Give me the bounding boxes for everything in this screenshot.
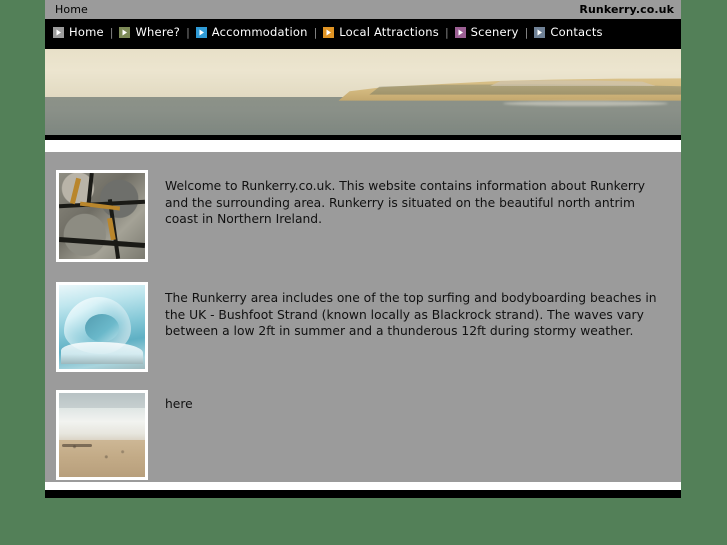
nav-label-accommodation: Accommodation: [212, 25, 308, 39]
arrow-right-icon: [53, 27, 64, 38]
nav-item-accommodation[interactable]: Accommodation: [196, 19, 308, 45]
nav-label-contacts: Contacts: [550, 25, 602, 39]
page-root: Home Runkerry.co.uk Home | Where? | Acco…: [0, 0, 727, 545]
divider-white-bottom: [45, 482, 681, 490]
content-panel: Welcome to Runkerry.co.uk. This website …: [45, 152, 681, 482]
nav-separator: |: [104, 26, 120, 39]
nav-label-local-attractions: Local Attractions: [339, 25, 439, 39]
nav-separator: |: [180, 26, 196, 39]
content-text: The Runkerry area includes one of the to…: [148, 282, 658, 340]
titlebar: Home Runkerry.co.uk: [45, 0, 681, 19]
arrow-right-icon: [455, 27, 466, 38]
arrow-right-icon: [323, 27, 334, 38]
nav-separator: |: [439, 26, 455, 39]
nav-item-home[interactable]: Home: [53, 19, 104, 45]
basalt-columns-thumbnail[interactable]: [56, 170, 148, 262]
content-block: here: [45, 372, 681, 480]
nav-label-scenery: Scenery: [471, 25, 519, 39]
banner-surf-foam: [503, 101, 668, 106]
nav-label-where: Where?: [135, 25, 180, 39]
wave-barrel: [85, 314, 119, 343]
titlebar-site-name: Runkerry.co.uk: [579, 3, 674, 16]
footer-bar: [45, 490, 681, 498]
content-text: here: [148, 390, 193, 413]
nav-separator: |: [519, 26, 535, 39]
content-text: Welcome to Runkerry.co.uk. This website …: [148, 170, 658, 228]
nav-item-scenery[interactable]: Scenery: [455, 19, 519, 45]
nav-item-contacts[interactable]: Contacts: [534, 19, 602, 45]
wave-spray: [61, 342, 144, 364]
arrow-right-icon: [196, 27, 207, 38]
banner-image: [45, 49, 681, 135]
nav-separator: |: [308, 26, 324, 39]
banner-photo: [45, 45, 681, 140]
arrow-right-icon: [119, 27, 130, 38]
beach-surf-thumbnail[interactable]: [56, 390, 148, 480]
content-block: The Runkerry area includes one of the to…: [45, 262, 681, 372]
content-block: Welcome to Runkerry.co.uk. This website …: [45, 162, 681, 262]
breaking-wave-thumbnail[interactable]: [56, 282, 148, 372]
main-navigation: Home | Where? | Accommodation | Local At…: [45, 19, 681, 45]
divider-white-top: [45, 140, 681, 152]
nav-item-local-attractions[interactable]: Local Attractions: [323, 19, 439, 45]
beach-speckle: [59, 393, 145, 477]
arrow-right-icon: [534, 27, 545, 38]
nav-label-home: Home: [69, 25, 104, 39]
nav-item-where[interactable]: Where?: [119, 19, 180, 45]
titlebar-page-name: Home: [55, 3, 88, 16]
